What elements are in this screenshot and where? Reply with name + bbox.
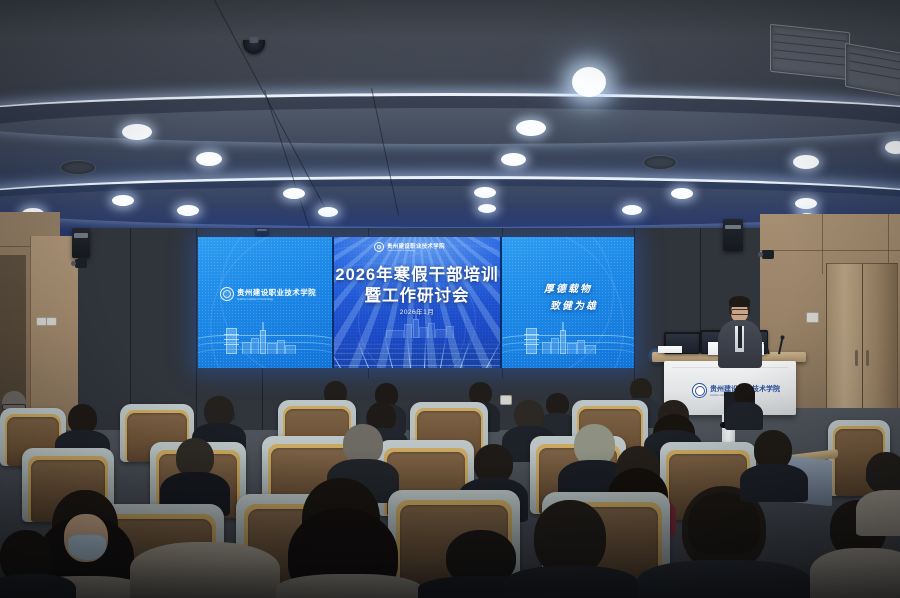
ceiling-downlight xyxy=(793,155,819,169)
ceiling-downlight xyxy=(474,187,496,198)
wall-camera-left xyxy=(75,259,87,268)
led-left-org-name-en: Guizhou Institute of Technology xyxy=(237,298,316,301)
led-event-date: 2026年1月 xyxy=(334,306,500,316)
ceiling-downlight xyxy=(671,188,693,199)
audience-member-foreground xyxy=(510,500,630,598)
ceiling-downlight xyxy=(283,188,305,199)
led-panel-right: 厚德载物 致健为雄 xyxy=(502,237,634,368)
auditorium-photo: 贵州建设职业技术学院 Guizhou Institute of Technolo… xyxy=(0,0,900,598)
ceiling-downlight xyxy=(112,195,134,206)
ceiling-downlight xyxy=(516,120,546,136)
led-center-org-name-en: Guizhou Institute of Technology xyxy=(387,250,445,252)
speaker-hair-top xyxy=(729,296,750,307)
audience-member-foreground xyxy=(130,500,280,598)
led-center-org-logo: 贵州建设职业技术学院 Guizhou Institute of Technolo… xyxy=(374,242,445,252)
audience-member xyxy=(164,438,226,508)
audience-member xyxy=(744,430,804,496)
school-seal-icon xyxy=(220,287,234,301)
led-perspective-grid xyxy=(334,334,500,368)
ceiling-small-vent xyxy=(643,155,677,170)
wall-outlet-right[interactable] xyxy=(806,312,819,323)
school-seal-icon xyxy=(374,242,384,252)
ceiling-downlight xyxy=(196,152,222,166)
led-center-org-name-cn: 贵州建设职业技术学院 xyxy=(387,242,445,250)
ceiling xyxy=(0,0,900,232)
ceiling-downlight xyxy=(501,153,526,166)
audience-member xyxy=(0,530,70,598)
speaker-necktie xyxy=(738,326,742,348)
ceiling-downlight xyxy=(885,141,900,154)
wall-camera-right xyxy=(762,250,774,259)
ceiling-downlight xyxy=(795,198,817,209)
led-panel-left: 贵州建设职业技术学院 Guizhou Institute of Technolo… xyxy=(198,237,332,368)
led-right-skyline xyxy=(502,330,634,354)
led-title-line2: 暨工作研讨会 xyxy=(334,282,500,306)
wall-speaker-left xyxy=(72,228,90,258)
wall-outlet-left[interactable] xyxy=(46,317,57,326)
ceiling-downlight xyxy=(318,207,338,217)
podium-paper-left xyxy=(658,346,682,353)
calligraphy-line1: 厚德载物 xyxy=(502,280,634,295)
ceiling-ac-vent xyxy=(770,24,850,80)
ceiling-small-vent xyxy=(60,160,96,175)
speaker-glasses xyxy=(731,309,750,315)
calligraphy-line2: 致健为雄 xyxy=(502,297,634,312)
audience-member xyxy=(729,383,759,427)
led-video-wall: 贵州建设职业技术学院 Guizhou Institute of Technolo… xyxy=(198,237,634,368)
school-seal-icon xyxy=(692,383,707,398)
audience-member-foreground xyxy=(282,478,412,598)
led-left-skyline xyxy=(198,330,332,354)
ceiling-downlight xyxy=(622,205,642,215)
ceiling-downlight xyxy=(572,67,606,97)
wall-speaker-right xyxy=(723,219,743,251)
wall-speaker-small xyxy=(255,228,269,236)
ceiling-downlight xyxy=(177,205,199,216)
led-left-org-logo: 贵州建设职业技术学院 Guizhou Institute of Technolo… xyxy=(220,287,316,301)
ceiling-downlight xyxy=(122,124,152,140)
ceiling-downlight xyxy=(478,204,496,213)
led-left-org-name-cn: 贵州建设职业技术学院 xyxy=(237,287,316,298)
audience-member xyxy=(862,452,900,532)
led-panel-center: 贵州建设职业技术学院 Guizhou Institute of Technolo… xyxy=(334,237,500,368)
audience-member-foreground xyxy=(648,486,798,598)
